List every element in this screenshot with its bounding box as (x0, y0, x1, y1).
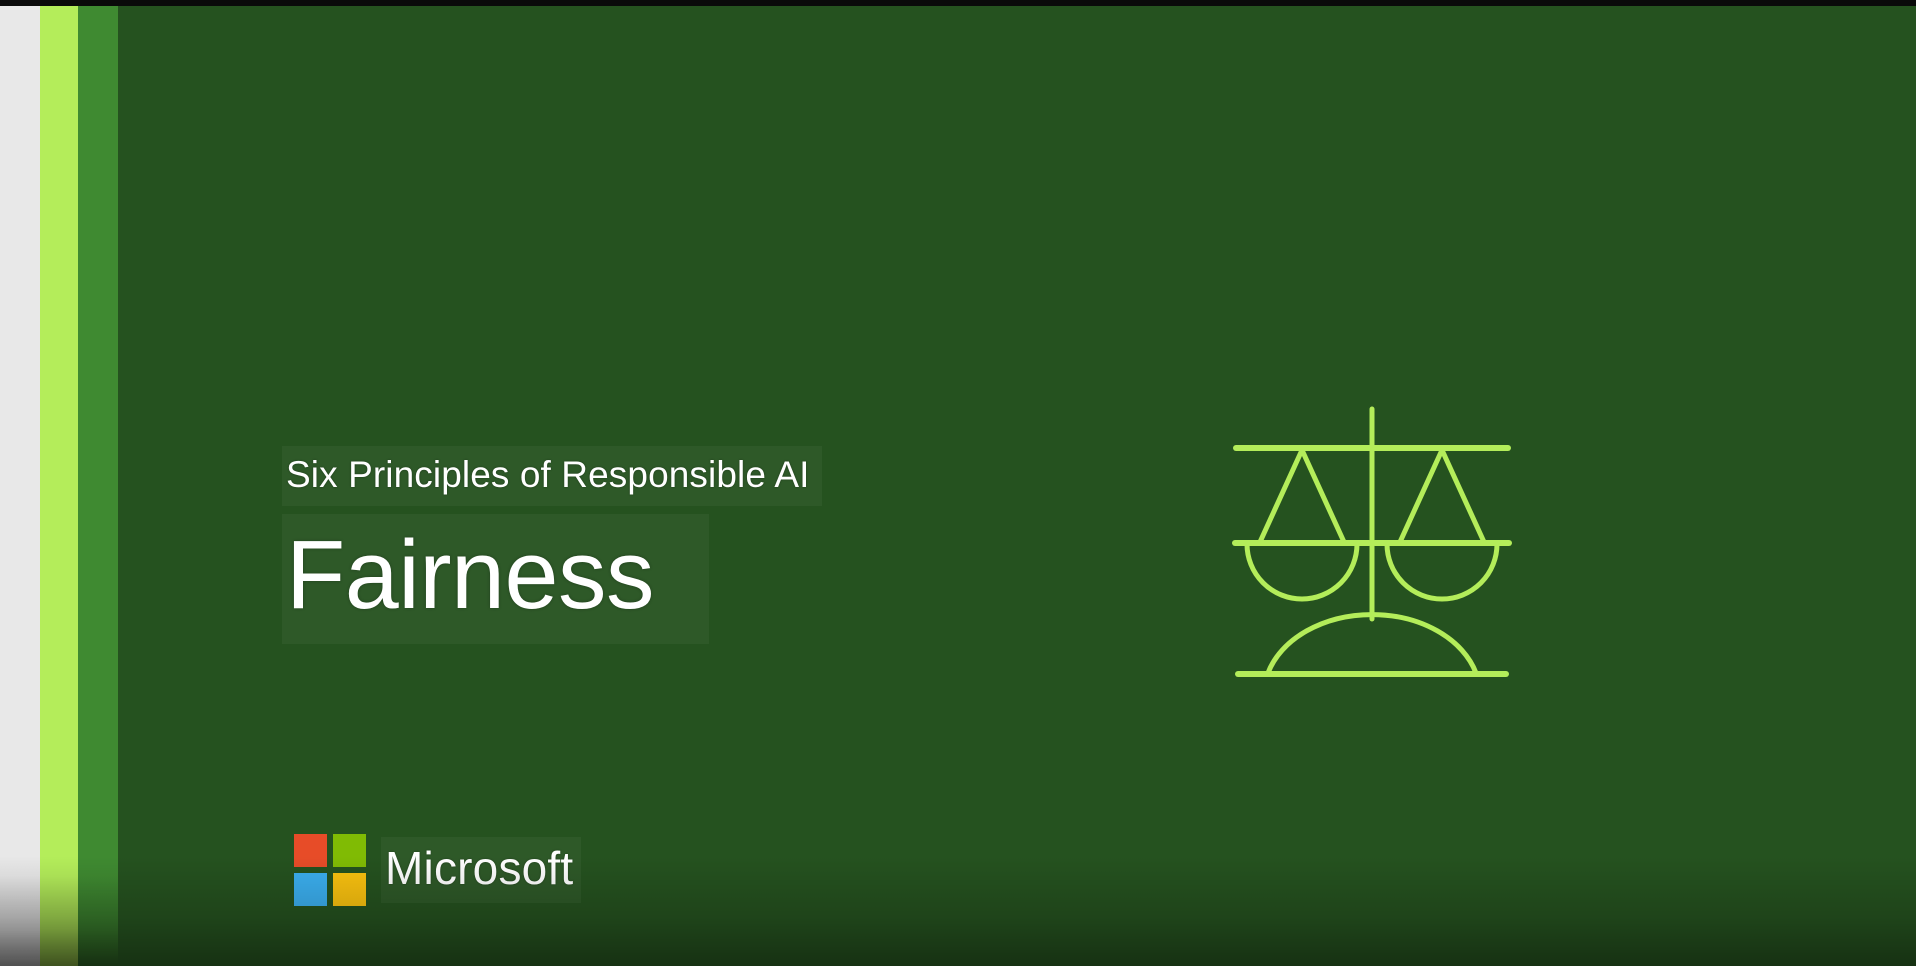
bottom-shade-overlay (0, 856, 1916, 966)
logo-square-yellow (333, 873, 366, 906)
scales-base-dome (1268, 615, 1476, 673)
green-stripe (78, 6, 118, 966)
scales-left-pan-bowl (1247, 544, 1357, 599)
left-accent-stripes (0, 6, 118, 966)
slide-headline: Fairness (282, 514, 709, 644)
top-letterbox-bar (0, 0, 1916, 6)
microsoft-brand-lockup: Microsoft (294, 834, 581, 906)
balance-scales-icon (1222, 401, 1522, 701)
microsoft-wordmark: Microsoft (381, 837, 581, 903)
slide-eyebrow: Six Principles of Responsible AI (282, 446, 822, 506)
logo-square-red (294, 834, 327, 867)
logo-square-blue (294, 873, 327, 906)
presentation-slide: Six Principles of Responsible AI Fairnes… (0, 0, 1916, 966)
lime-stripe (40, 6, 78, 966)
logo-square-green (333, 834, 366, 867)
slide-canvas: Six Principles of Responsible AI Fairnes… (0, 6, 1916, 966)
headline-wrap: Fairness (282, 514, 822, 644)
gray-stripe (0, 6, 40, 966)
scales-right-strings (1400, 450, 1484, 542)
title-block: Six Principles of Responsible AI Fairnes… (282, 446, 822, 644)
scales-right-pan-bowl (1387, 544, 1497, 599)
microsoft-logo-icon (294, 834, 366, 906)
scales-left-strings (1260, 450, 1344, 542)
